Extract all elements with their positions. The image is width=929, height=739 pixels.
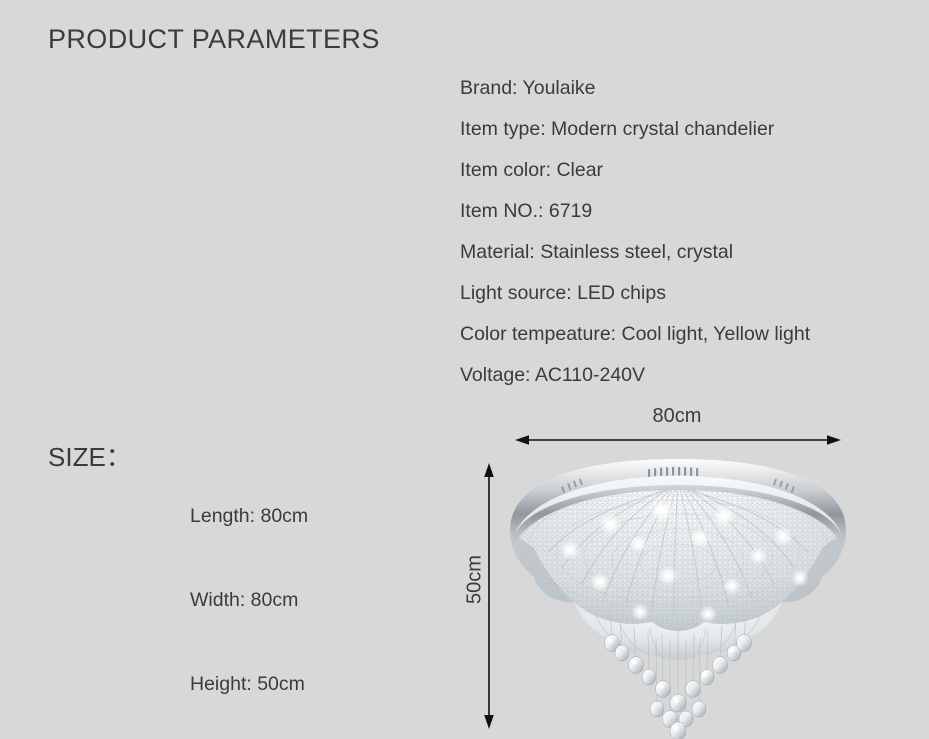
size-row-height: Height: 50cm [190, 642, 440, 726]
parameter-row: Material: Stainless steel, crystal [460, 232, 910, 273]
dimension-height-arrow [479, 460, 499, 732]
parameter-row: Color tempeature: Cool light, Yellow lig… [460, 314, 910, 355]
parameter-list: Brand: Youlaike Item type: Modern crysta… [460, 68, 910, 396]
parameter-row: Brand: Youlaike [460, 68, 910, 109]
size-row-length: Length: 80cm [190, 474, 440, 558]
parameter-row: Item color: Clear [460, 150, 910, 191]
size-list: Length: 80cm Width: 80cm Height: 50cm [190, 474, 440, 726]
dimension-width-label: 80cm [517, 405, 837, 428]
page-title: PRODUCT PARAMETERS [48, 24, 380, 55]
product-image-crystal-chandelier [500, 452, 856, 739]
product-parameters-page: PRODUCT PARAMETERS Brand: Youlaike Item … [0, 0, 929, 739]
parameter-row: Item type: Modern crystal chandelier [460, 109, 910, 150]
parameter-row: Item NO.: 6719 [460, 191, 910, 232]
size-row-width: Width: 80cm [190, 558, 440, 642]
dimension-width-arrow [512, 430, 844, 450]
parameter-row: Light source: LED chips [460, 273, 910, 314]
parameter-row: Voltage: AC110-240V [460, 355, 910, 396]
size-heading: SIZE： [48, 437, 132, 474]
